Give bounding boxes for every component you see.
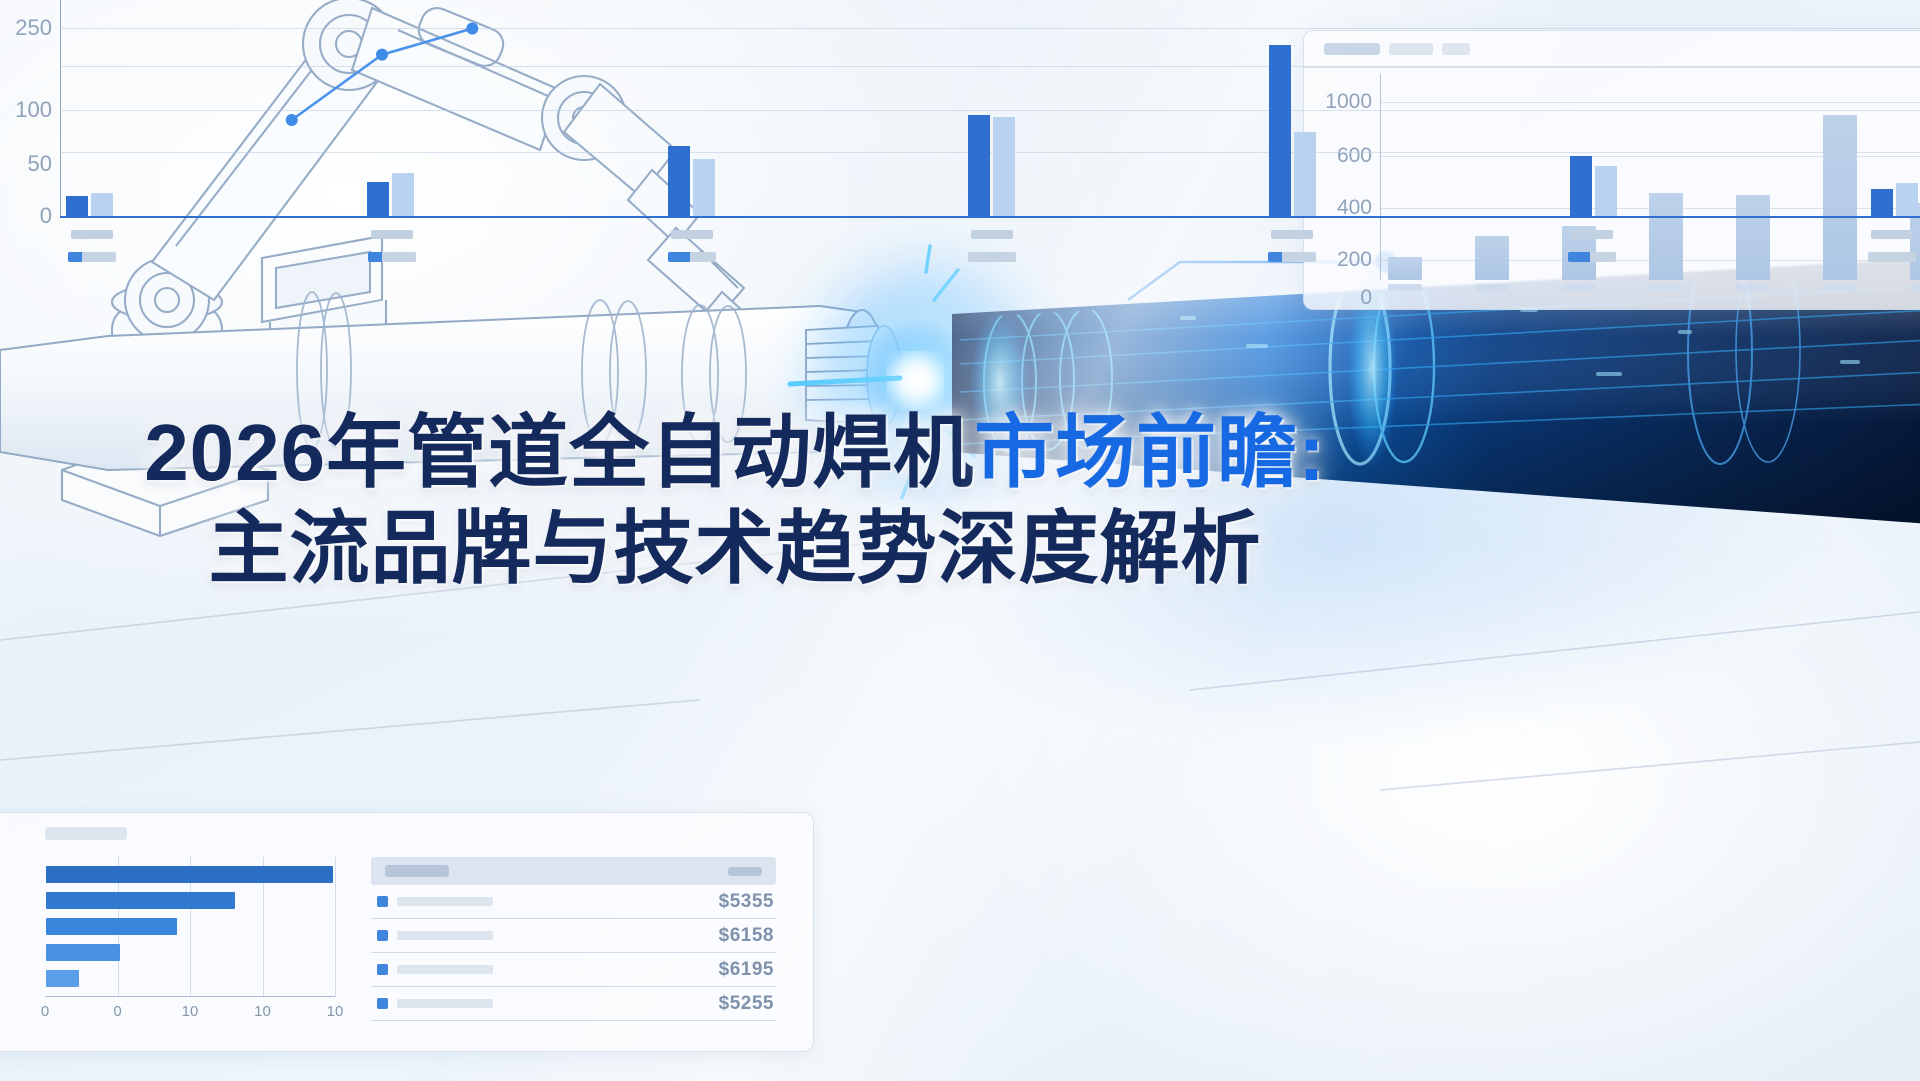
x-tick-placeholder — [1871, 230, 1913, 239]
legend-chip — [968, 252, 1016, 262]
poster-title-block: 2026年管道全自动焊机市场前瞻: 主流品牌与技术趋势深度解析 — [0, 405, 1470, 597]
bar-group — [668, 146, 715, 216]
bar-primary — [1269, 45, 1291, 216]
x-tick-placeholder — [1571, 230, 1613, 239]
legend-chip — [368, 252, 416, 262]
x-tick — [1562, 284, 1596, 291]
bar-group — [1570, 156, 1617, 216]
x-tick — [1823, 284, 1857, 291]
x-tick — [66, 226, 118, 244]
legend-chip — [1868, 252, 1916, 262]
table-row-value: $6195 — [719, 959, 774, 981]
x-tick — [666, 226, 718, 244]
table-row-label — [377, 896, 493, 907]
color-swatch-icon — [377, 930, 388, 941]
y-tick-label: 250 — [0, 15, 52, 41]
hbar — [46, 866, 333, 883]
bar-group — [1871, 183, 1918, 216]
x-tick-placeholder — [971, 230, 1013, 239]
y-tick-label: 50 — [0, 151, 52, 177]
x-tick-placeholder — [671, 230, 713, 239]
y-axis-line — [60, 0, 61, 218]
bar-group — [66, 193, 113, 216]
table-row[interactable]: $5355 — [371, 885, 776, 919]
table-row-label — [377, 964, 493, 975]
color-swatch-icon — [377, 998, 388, 1009]
table-row-value: $6158 — [719, 925, 774, 947]
bar-secondary — [693, 159, 715, 216]
x-tick — [366, 226, 418, 244]
bar-secondary — [1595, 166, 1617, 216]
bar-group — [367, 173, 414, 216]
bottom-left-panel: 00101010 $5355$6158$6195$5255 — [0, 812, 814, 1052]
hbar — [46, 892, 235, 909]
per-category-legend-row — [66, 252, 1918, 262]
title-line-1-dark: 2026年管道全自动焊机 — [144, 408, 974, 497]
table-body: $5355$6158$6195$5255 — [371, 885, 776, 1021]
table-row-value: $5255 — [719, 993, 774, 1015]
legend-cell — [966, 252, 1018, 262]
x-axis-line — [60, 216, 1920, 218]
color-swatch-icon — [377, 896, 388, 907]
legend-cell — [666, 252, 718, 262]
x-tick — [1736, 284, 1770, 291]
x-tick — [1866, 226, 1918, 244]
table-row-label — [377, 998, 493, 1009]
x-tick — [1475, 284, 1509, 291]
title-line-2: 主流品牌与技术趋势深度解析 — [0, 501, 1470, 597]
x-tick-label: 10 — [327, 1003, 344, 1020]
bar-secondary — [1294, 132, 1316, 216]
title-line-1-accent: 市场前瞻: — [974, 408, 1326, 497]
bar-group — [1269, 45, 1316, 216]
x-tick-label: 0 — [41, 1003, 49, 1020]
hbar — [46, 944, 120, 961]
bottom-left-table: $5355$6158$6195$5255 — [371, 857, 776, 1021]
bottom-right-plot-area: 250 100 50 0 — [0, 0, 1920, 218]
table-row-value: $5355 — [719, 891, 774, 913]
legend-cell — [1266, 252, 1318, 262]
x-tick — [1388, 284, 1422, 291]
panel-section-title-placeholder — [45, 827, 127, 840]
bar-primary — [968, 115, 990, 216]
color-swatch-icon — [377, 964, 388, 975]
legend-chip — [668, 252, 716, 262]
legend-cell — [66, 252, 118, 262]
x-tick-container — [66, 226, 1918, 244]
label-placeholder — [397, 897, 493, 906]
label-placeholder — [397, 999, 493, 1008]
bar-group — [968, 115, 1015, 216]
x-tick-label: 10 — [254, 1003, 271, 1020]
y-tick-label: 100 — [0, 97, 52, 123]
legend-chip — [68, 252, 116, 262]
legend-chip — [1568, 252, 1616, 262]
poster-canvas: 1000 600 400 200 0 2026年管道全自动焊机市场前瞻: 主流品… — [0, 0, 1920, 1081]
title-line-1: 2026年管道全自动焊机市场前瞻: — [0, 405, 1470, 501]
bar-group-container — [66, 16, 1918, 216]
x-tick-label: 10 — [182, 1003, 199, 1020]
table-header-value-col — [728, 867, 762, 876]
x-tick-placeholder — [1271, 230, 1313, 239]
hbar — [46, 918, 177, 935]
bar-secondary — [392, 173, 414, 216]
bar-secondary — [1896, 183, 1918, 216]
x-tick — [1649, 284, 1683, 291]
table-row-label — [377, 930, 493, 941]
hbar-x-tick-labels: 00101010 — [45, 1003, 335, 1023]
x-tick-placeholder — [71, 230, 113, 239]
bar-secondary — [993, 117, 1015, 216]
table-header-row — [371, 857, 776, 885]
bottom-right-combo-chart: 250 100 50 0 — [0, 0, 700, 300]
bar-primary — [668, 146, 690, 216]
table-header-name-col — [385, 865, 449, 877]
legend-chip — [1268, 252, 1316, 262]
label-placeholder — [397, 931, 493, 940]
table-row[interactable]: $6158 — [371, 919, 776, 953]
x-tick-container — [1388, 284, 1920, 298]
vgridline-4 — [335, 857, 336, 997]
x-tick — [1566, 226, 1618, 244]
legend-cell — [366, 252, 418, 262]
x-tick — [966, 226, 1018, 244]
legend-cell — [1866, 252, 1918, 262]
bar-primary — [1871, 189, 1893, 216]
table-row[interactable]: $5255 — [371, 987, 776, 1021]
x-tick-placeholder — [371, 230, 413, 239]
hbar — [46, 970, 79, 987]
x-tick — [1266, 226, 1318, 244]
bar-primary — [1570, 156, 1592, 216]
y-tick-label: 0 — [0, 203, 52, 229]
table-row[interactable]: $6195 — [371, 953, 776, 987]
bottom-left-hbar-chart — [45, 857, 335, 997]
x-axis-line — [45, 996, 335, 997]
x-tick-label: 0 — [113, 1003, 121, 1020]
bar-primary — [66, 196, 88, 216]
bar-secondary — [91, 193, 113, 216]
y-tick-label: 0 — [1314, 286, 1372, 310]
legend-cell — [1566, 252, 1618, 262]
x-tick — [1910, 284, 1920, 291]
label-placeholder — [397, 965, 493, 974]
bar-primary — [367, 182, 389, 216]
